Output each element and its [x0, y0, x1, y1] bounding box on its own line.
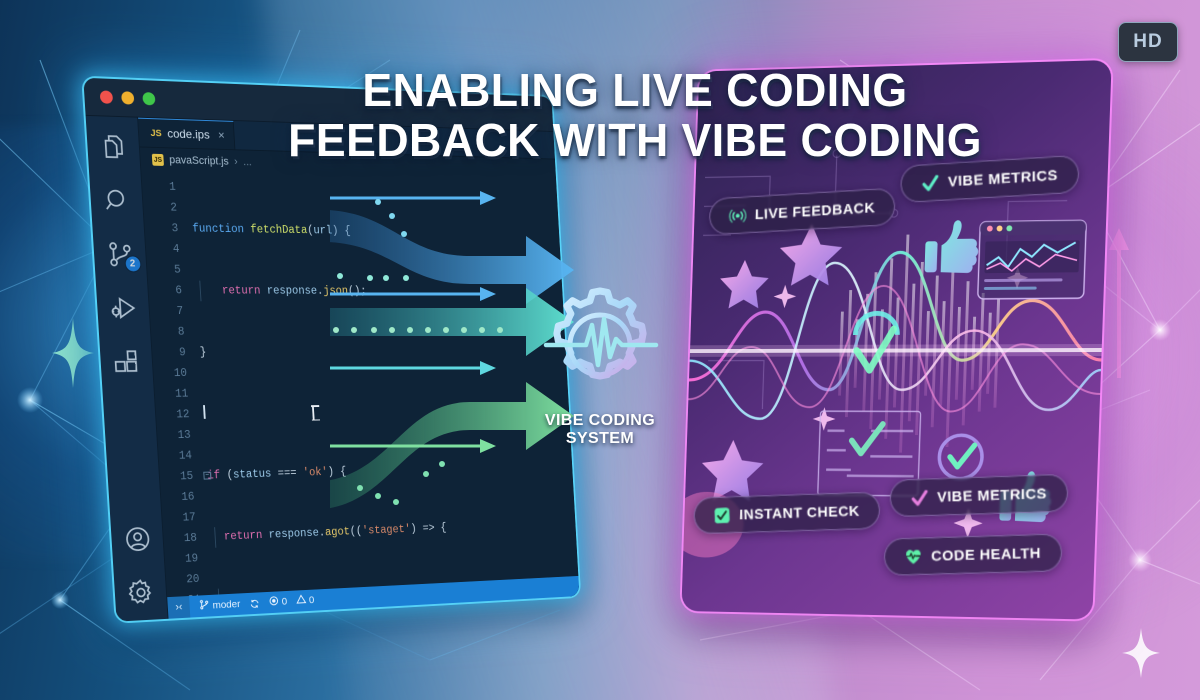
status-branch-label: moder [212, 598, 240, 611]
hd-badge: HD [1118, 22, 1178, 62]
close-button[interactable] [100, 90, 113, 103]
broadcast-icon [729, 206, 747, 225]
pill-code-health[interactable]: CODE HEALTH [884, 534, 1062, 576]
line-number: 10 [153, 363, 188, 384]
run-debug-icon[interactable] [109, 294, 138, 322]
pill-vibe-metrics-bottom[interactable]: VIBE METRICS [890, 474, 1068, 517]
breadcrumb-more[interactable]: ... [243, 156, 252, 168]
pill-live-feedback-label: LIVE FEEDBACK [755, 199, 875, 223]
search-icon[interactable] [102, 186, 131, 214]
line-number: 13 [157, 425, 192, 446]
pill-instant-check-label: INSTANT CHECK [739, 502, 860, 522]
gear-pulse-icon [540, 285, 660, 405]
sparkle-icon-bottom-right [1122, 628, 1160, 678]
status-errors-count: 0 [281, 596, 287, 608]
pill-vibe-metrics-top-label: VIBE METRICS [948, 167, 1058, 190]
explorer-icon[interactable] [99, 132, 128, 161]
up-arrow-icon [1108, 228, 1130, 378]
line-number: 1 [142, 176, 177, 198]
git-branch-icon [199, 599, 210, 613]
line-number: 9 [152, 343, 187, 364]
line-number: 6 [148, 280, 183, 301]
check-icon [921, 173, 939, 193]
pill-instant-check[interactable]: INSTANT CHECK [694, 492, 880, 535]
minimize-button[interactable] [121, 91, 134, 104]
vibe-metrics-panel: LIVE FEEDBACK VIBE METRICS INSTANT CHECK… [681, 60, 1111, 620]
poster-stage: HD ENABLING LIVE CODING FEEDBACK WITH VI… [0, 0, 1200, 700]
sync-icon[interactable] [249, 598, 260, 609]
line-number: 3 [144, 218, 179, 239]
chevron-right-icon: › [234, 156, 238, 168]
pill-code-health-label: CODE HEALTH [931, 545, 1041, 565]
status-errors[interactable]: 0 [269, 595, 288, 609]
line-number: 5 [147, 260, 182, 281]
warning-icon [296, 594, 307, 608]
line-number: 19 [164, 548, 198, 570]
status-warnings[interactable]: 0 [296, 593, 315, 607]
line-number: 2 [143, 197, 178, 218]
line-number: 20 [166, 569, 200, 591]
line-number: 17 [162, 507, 196, 529]
breadcrumb-file[interactable]: pavaScript.js [169, 154, 229, 167]
check-icon-pink [910, 488, 928, 507]
account-icon[interactable] [123, 525, 152, 554]
zoom-button[interactable] [142, 92, 155, 105]
line-number: 15 [159, 466, 193, 488]
hd-badge-label: HD [1133, 31, 1162, 53]
remote-window-icon[interactable]: ›‹ [167, 596, 190, 619]
close-icon[interactable]: × [218, 128, 225, 142]
line-number: 11 [154, 384, 189, 405]
tab-code-ips[interactable]: JS code.ips × [138, 118, 236, 150]
error-icon [269, 595, 280, 609]
pill-vibe-metrics-bottom-label: VIBE METRICS [937, 485, 1047, 505]
js-file-icon: JS [150, 127, 162, 138]
status-warnings-count: 0 [309, 594, 315, 606]
checkbox-icon [713, 506, 731, 525]
line-number: 18 [163, 528, 197, 550]
line-number: 16 [161, 487, 195, 509]
line-number: 7 [149, 301, 184, 322]
fold-toggle-icon: − [203, 472, 211, 480]
activity-bar-spacer [129, 401, 135, 499]
line-number: 12 [156, 404, 191, 425]
vibe-coding-system-core: VIBE CODING SYSTEM [525, 285, 675, 455]
text-cursor-ibeam [312, 405, 321, 420]
extensions-icon[interactable] [112, 348, 141, 376]
source-control-badge: 2 [124, 255, 141, 272]
line-number: 14 [158, 446, 192, 468]
sparkle-icon-left [52, 318, 94, 388]
js-file-icon-small: JS [152, 154, 164, 166]
tab-label: code.ips [167, 127, 210, 142]
heart-pulse-icon [904, 547, 922, 566]
status-branch[interactable]: moder [199, 597, 241, 613]
settings-gear-icon[interactable] [126, 578, 155, 607]
vibe-core-label: VIBE CODING SYSTEM [525, 412, 675, 448]
line-number: 4 [145, 239, 180, 260]
line-number: 8 [150, 322, 185, 343]
source-control-icon[interactable]: 2 [105, 240, 134, 268]
